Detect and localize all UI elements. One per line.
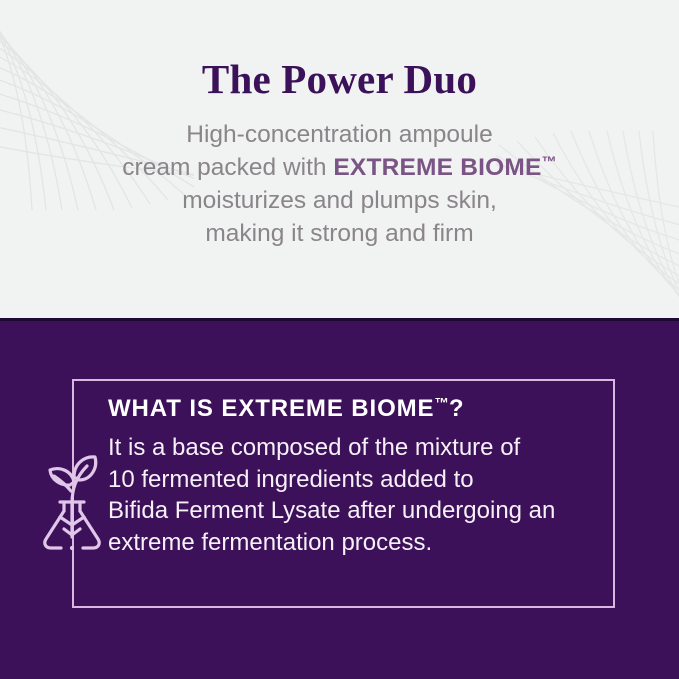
flask-dot: [70, 546, 74, 550]
section-body: It is a base composed of the mixture of1…: [108, 432, 613, 559]
body-line-3: Bifida Ferment Lysate after undergoing a…: [108, 497, 555, 524]
subcopy-line-3: moisturizes and plumps skin,: [182, 187, 497, 214]
section-heading-question-mark: ?: [449, 395, 465, 422]
trademark-symbol: ™: [434, 396, 448, 412]
top-hero-section: The Power Duo High-concentration ampoule…: [0, 0, 679, 318]
brand-name-text: EXTREME BIOME: [333, 154, 541, 181]
page-title: The Power Duo: [202, 58, 477, 101]
extreme-biome-info-section: WHAT IS EXTREME BIOME™? It is a base com…: [0, 321, 679, 679]
body-line-2: 10 fermented ingredients added to: [108, 466, 474, 493]
subcopy-line-4: making it strong and firm: [205, 220, 473, 247]
section-heading-text: WHAT IS EXTREME BIOME: [108, 395, 434, 422]
section-heading: WHAT IS EXTREME BIOME™?: [108, 395, 618, 423]
promo-banner: The Power Duo High-concentration ampoule…: [0, 0, 679, 679]
body-line-1: It is a base composed of the mixture of: [108, 434, 520, 461]
brand-name-extreme-biome: EXTREME BIOME™: [333, 154, 556, 181]
top-text-block: The Power Duo High-concentration ampoule…: [0, 0, 679, 318]
product-subcopy: High-concentration ampoulecream packed w…: [122, 119, 556, 250]
subcopy-line-2-prefix: cream packed with: [122, 154, 333, 181]
subcopy-line-1: High-concentration ampoule: [186, 121, 492, 148]
body-line-4: extreme fermentation process.: [108, 529, 432, 556]
info-frame-content: WHAT IS EXTREME BIOME™? It is a base com…: [108, 395, 618, 559]
sprout-in-flask-icon: [35, 447, 107, 559]
trademark-symbol: ™: [542, 154, 557, 171]
